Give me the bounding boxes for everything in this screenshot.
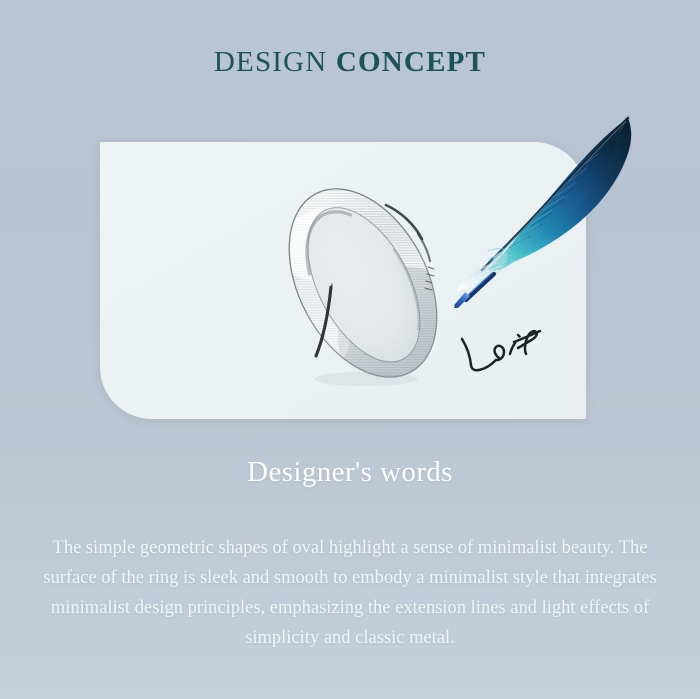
designers-words-heading: Designer's words (0, 456, 700, 489)
designer-statement-text: The simple geometric shapes of oval high… (28, 533, 672, 653)
concept-card (100, 142, 586, 419)
ring-sketch-image (258, 172, 468, 394)
page-title-bold: CONCEPT (336, 46, 486, 78)
designer-signature (452, 320, 562, 382)
page-root: DESIGN CONCEPT (0, 0, 700, 699)
page-title-regular: DESIGN (214, 46, 328, 78)
page-title: DESIGN CONCEPT (0, 47, 700, 79)
